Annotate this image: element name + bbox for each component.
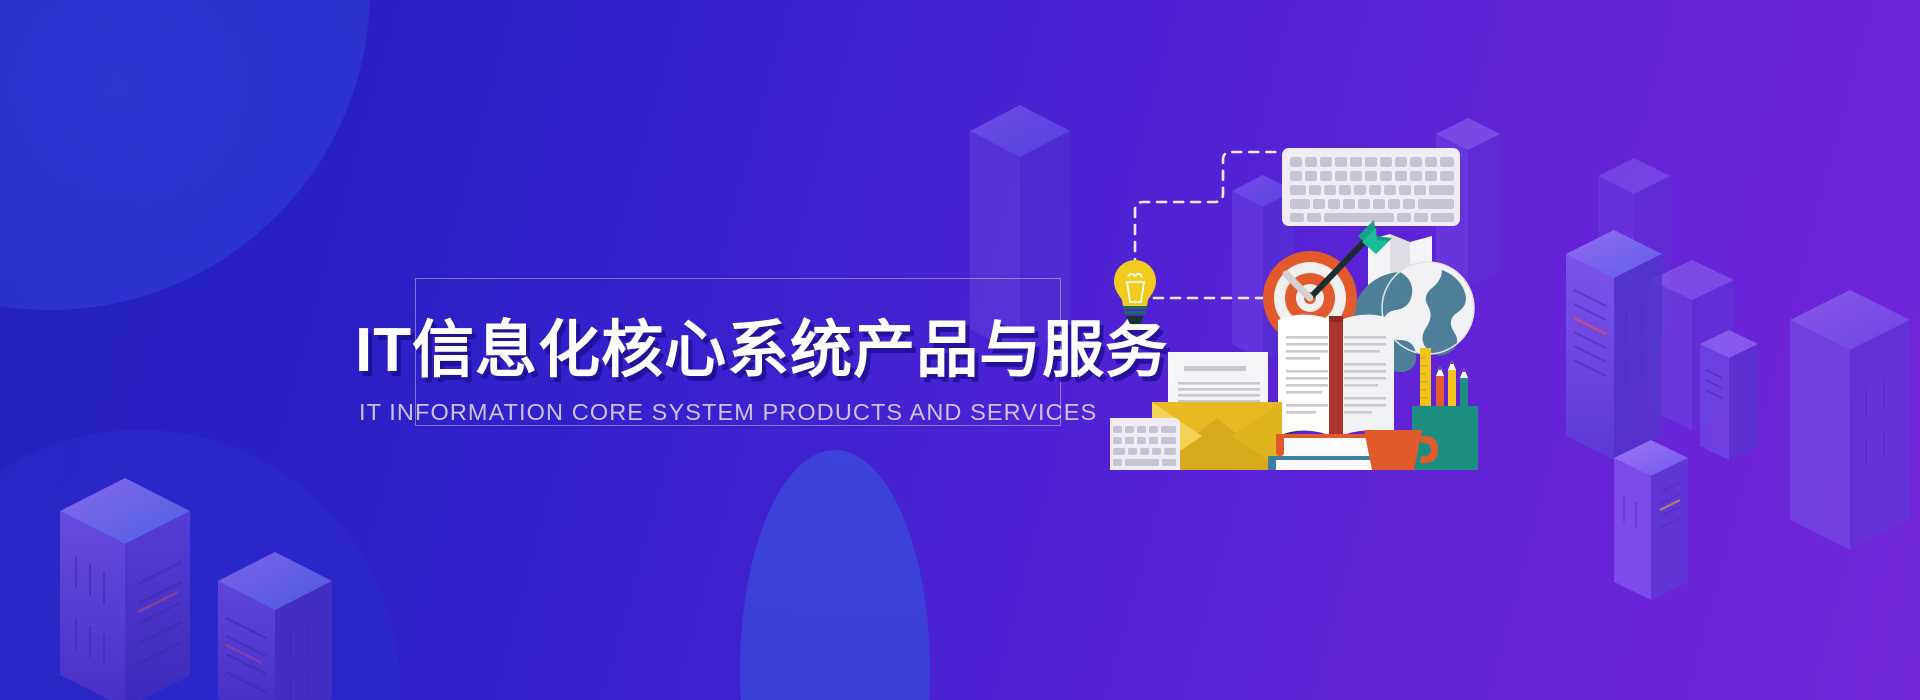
hero-illustration	[1110, 130, 1540, 470]
isometric-building-behind-keyboard	[1436, 118, 1512, 288]
isometric-building-right-4	[1566, 230, 1696, 460]
pencil-cup-icon	[1412, 348, 1478, 470]
lightbulb-icon	[1114, 260, 1156, 324]
pencils	[1436, 360, 1468, 452]
isometric-building-left-2	[218, 552, 368, 700]
keyboard-icon	[1282, 148, 1460, 226]
ellipse-bottom-center-decoration	[740, 450, 930, 700]
isometric-building-left-1	[60, 478, 230, 700]
target-with-arrow-icon	[1263, 220, 1392, 345]
isometric-building-right-7	[1614, 440, 1704, 600]
page-subtitle: IT INFORMATION CORE SYSTEM PRODUCTS AND …	[359, 399, 1135, 426]
headline-block: IT信息化核心系统产品与服务 IT INFORMATION CORE SYSTE…	[355, 318, 1135, 426]
isometric-building-behind-bulb	[1232, 175, 1306, 360]
coffee-cup-icon	[1364, 430, 1438, 470]
open-book-icon	[1278, 314, 1394, 445]
circle-bottom-left-decoration	[0, 430, 400, 700]
hero-banner: IT信息化核心系统产品与服务 IT INFORMATION CORE SYSTE…	[0, 0, 1920, 700]
globe-icon	[1352, 262, 1474, 372]
folded-map-icon	[1368, 234, 1432, 328]
page-title: IT信息化核心系统产品与服务	[355, 318, 1135, 385]
envelope-icon	[1152, 402, 1282, 470]
circle-top-left-decoration	[0, 0, 370, 310]
isometric-building-right-5	[1700, 330, 1770, 460]
isometric-building-right-6	[1790, 290, 1920, 550]
isometric-building-right-3	[1650, 260, 1750, 430]
document-with-chart-icon	[1168, 352, 1268, 470]
bar-chart-in-document	[1180, 416, 1242, 448]
stacked-books-icon	[1268, 434, 1416, 470]
dashed-connector-line	[1135, 152, 1295, 298]
ruler-icon	[1420, 348, 1431, 452]
isometric-building-right-2	[1598, 158, 1684, 348]
